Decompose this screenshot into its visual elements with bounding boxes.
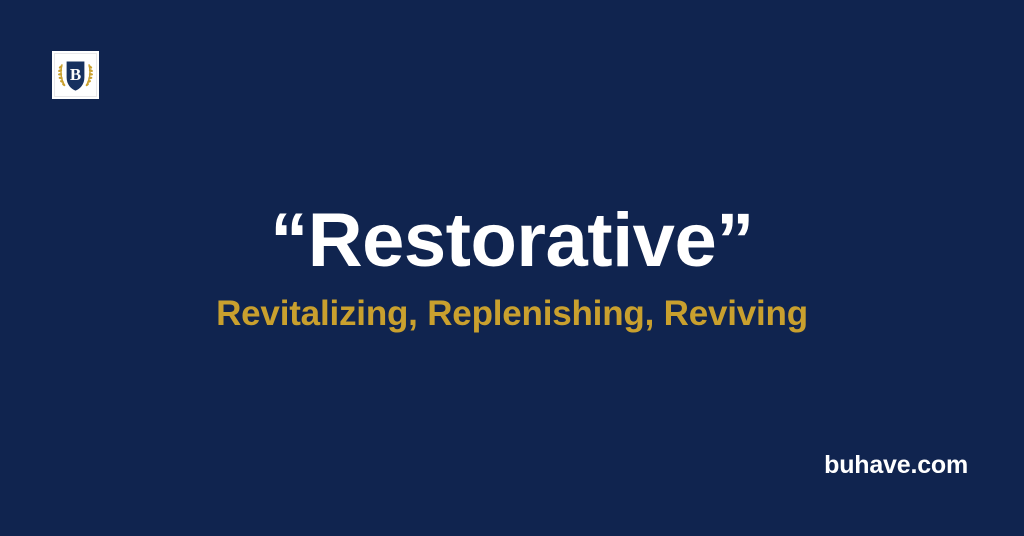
website-url[interactable]: buhave.com [824,451,968,480]
page-subtitle: Revitalizing, Replenishing, Reviving [216,295,808,334]
page-title: “Restorative” [270,203,753,279]
definition-card: B “Restorative” Revitalizing, Replenishi… [0,0,1024,536]
